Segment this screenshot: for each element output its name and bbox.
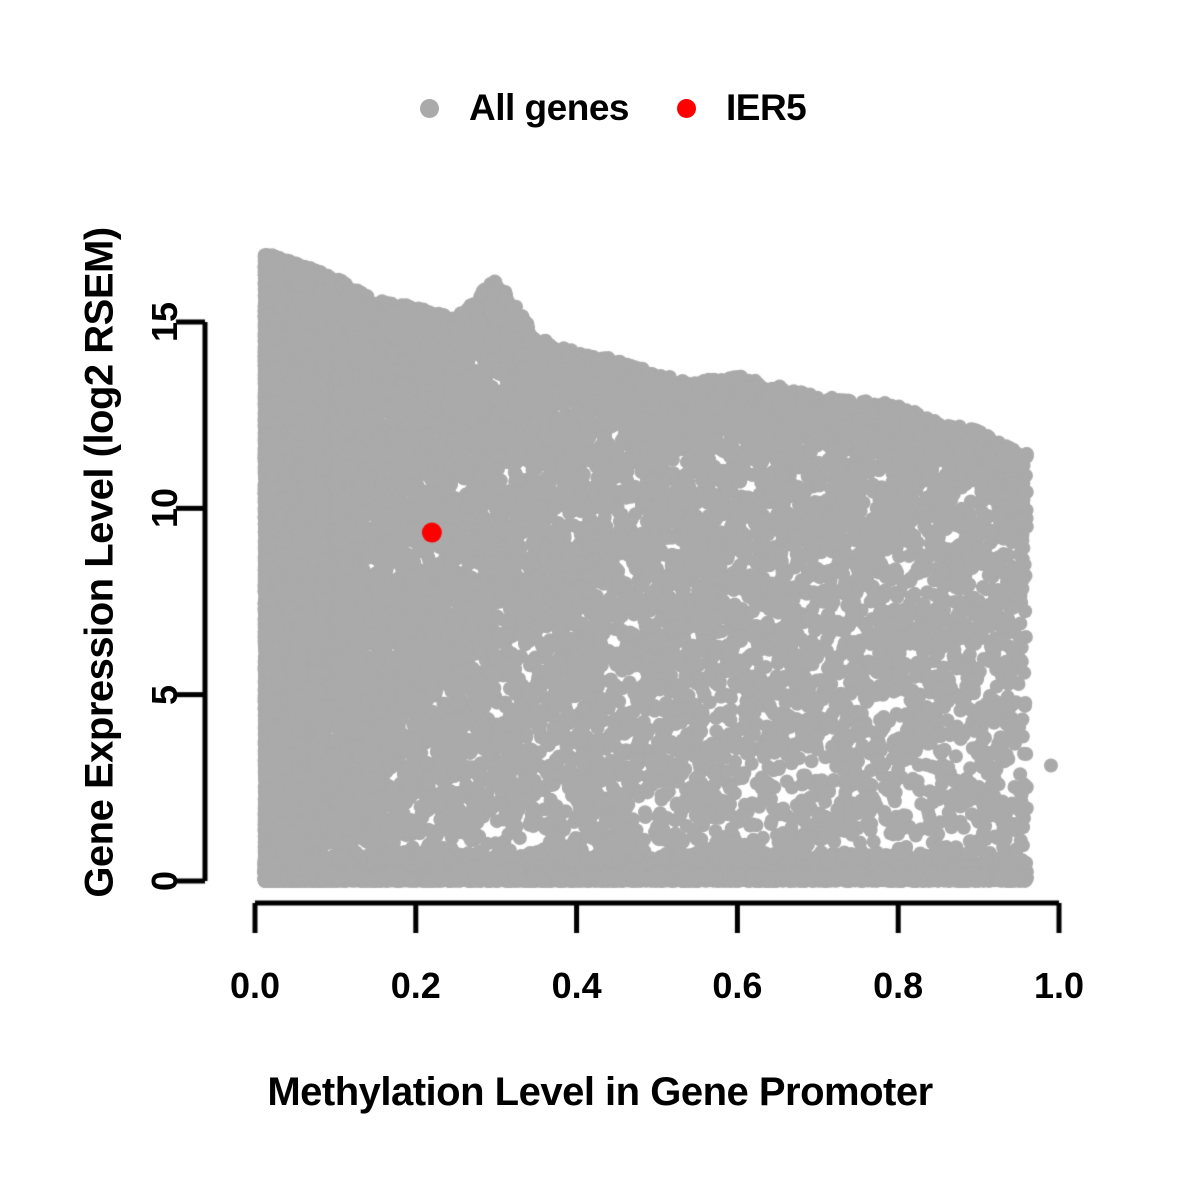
legend-label-ier5: IER5 — [726, 87, 806, 129]
y-tick-label: 10 — [143, 463, 187, 553]
scatter-plot-canvas — [0, 0, 1200, 1200]
x-axis-title: Methylation Level in Gene Promoter — [0, 1070, 1200, 1115]
x-tick-label: 0.0 — [195, 965, 315, 1007]
y-axis-title: Gene Expression Level (log2 RSEM) — [78, 113, 123, 1013]
legend-label-all-genes: All genes — [469, 87, 629, 129]
legend-marker-ier5-icon — [677, 99, 696, 118]
legend-marker-all-genes-icon — [420, 99, 439, 118]
x-tick-label: 0.6 — [677, 965, 797, 1007]
legend: All genes IER5 — [420, 82, 900, 134]
x-tick-label: 0.2 — [356, 965, 476, 1007]
y-tick-label: 5 — [143, 650, 187, 740]
legend-item-all-genes: All genes — [420, 87, 629, 129]
legend-item-ier5: IER5 — [677, 87, 806, 129]
x-tick-label: 0.4 — [517, 965, 637, 1007]
scatter-plot-figure: All genes IER5 Methylation Level in Gene… — [0, 0, 1200, 1200]
y-tick-label: 0 — [143, 836, 187, 926]
y-tick-label: 15 — [143, 277, 187, 367]
x-tick-label: 1.0 — [999, 965, 1119, 1007]
x-tick-label: 0.8 — [838, 965, 958, 1007]
